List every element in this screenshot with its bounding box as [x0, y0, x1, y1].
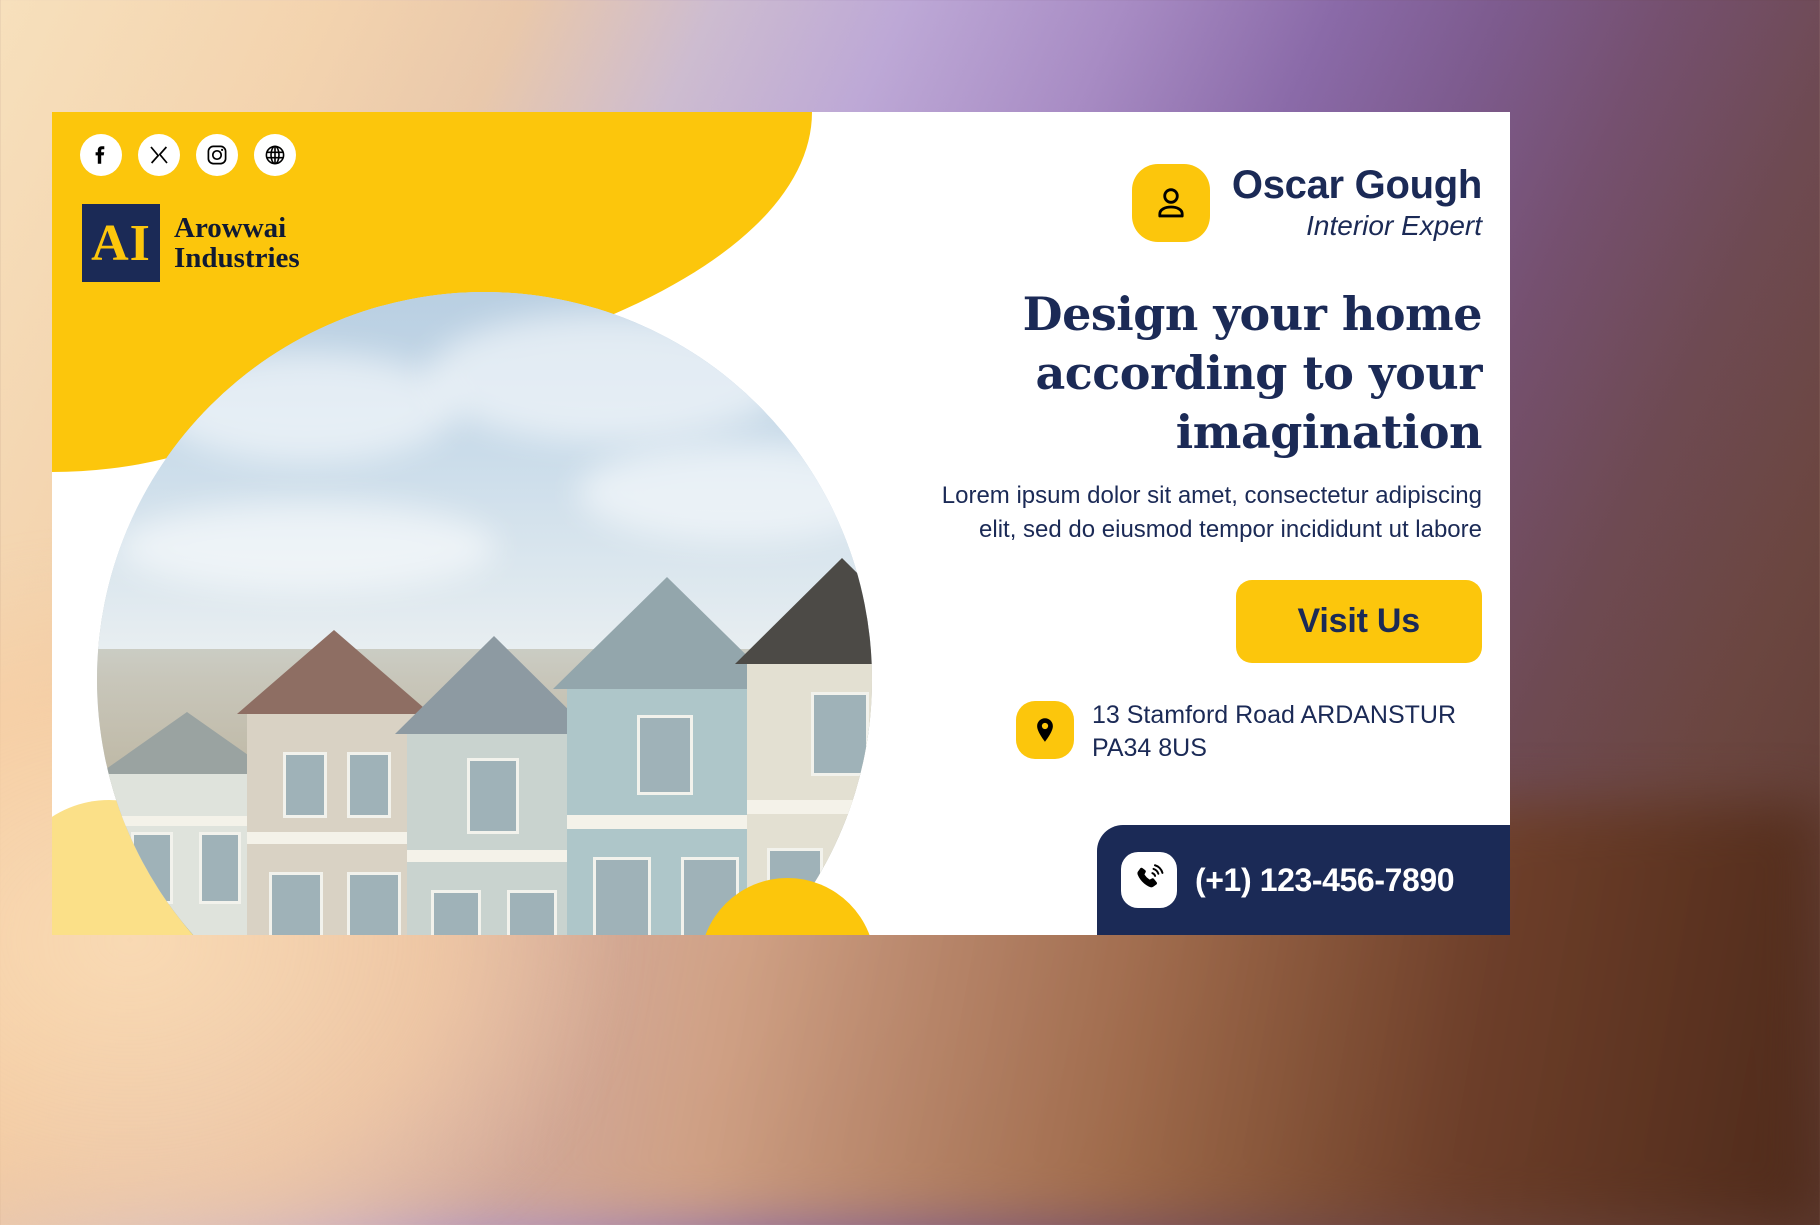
- phone-number: (+1) 123-456-7890: [1195, 862, 1454, 899]
- cta-row: Visit Us: [922, 580, 1482, 663]
- person-name: Oscar Gough: [1232, 164, 1482, 207]
- address-text: 13 Stamford Road ARDANSTUR PA34 8US: [1092, 699, 1482, 765]
- person-role: Interior Expert: [1232, 209, 1482, 243]
- phone-bar[interactable]: (+1) 123-456-7890: [1097, 825, 1510, 935]
- facebook-icon[interactable]: [80, 134, 122, 176]
- page-title: Design your home according to your imagi…: [922, 285, 1482, 462]
- logo-wordmark: Arowwai Industries: [174, 213, 300, 273]
- subtitle-text: Lorem ipsum dolor sit amet, consectetur …: [922, 479, 1482, 547]
- hero-photo: [97, 292, 872, 935]
- photo-house: [407, 732, 582, 935]
- photo-cloud: [117, 502, 497, 592]
- address-block: 13 Stamford Road ARDANSTUR PA34 8US: [922, 699, 1482, 765]
- photo-house: [247, 712, 422, 935]
- location-pin-icon: [1016, 701, 1074, 759]
- logo-name-line1: Arowwai: [174, 213, 300, 243]
- content-column: Oscar Gough Interior Expert Design your …: [922, 164, 1482, 765]
- photo-cloud: [427, 312, 787, 442]
- logo-monogram: AI: [82, 204, 160, 282]
- photo-house: [107, 772, 267, 935]
- photo-cloud: [157, 352, 457, 462]
- hero-photo-image: [97, 292, 872, 935]
- person-block: Oscar Gough Interior Expert: [922, 164, 1482, 243]
- instagram-icon[interactable]: [196, 134, 238, 176]
- phone-ringing-icon: [1121, 852, 1177, 908]
- flyer-card: AI Arowwai Industries Oscar Gough Interi…: [52, 112, 1510, 935]
- brand-logo[interactable]: AI Arowwai Industries: [82, 204, 300, 282]
- social-links: [80, 134, 296, 176]
- logo-name-line2: Industries: [174, 243, 300, 273]
- visit-us-button[interactable]: Visit Us: [1236, 580, 1483, 663]
- user-icon: [1132, 164, 1210, 242]
- x-icon[interactable]: [138, 134, 180, 176]
- globe-icon[interactable]: [254, 134, 296, 176]
- person-text: Oscar Gough Interior Expert: [1232, 164, 1482, 243]
